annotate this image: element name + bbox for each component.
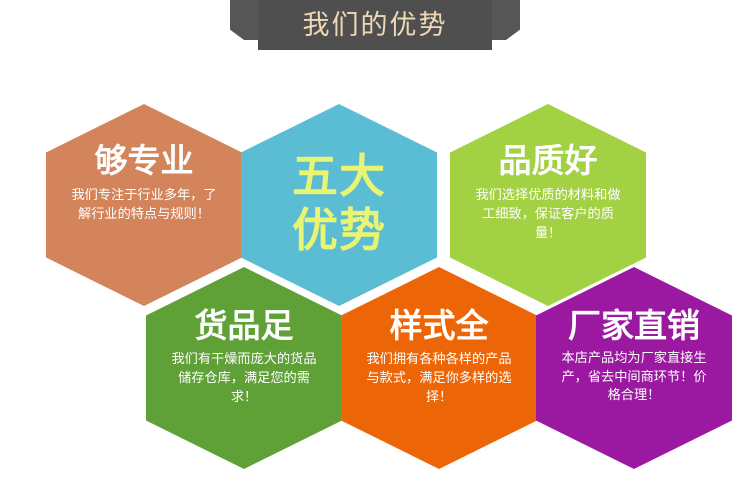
center-title: 五大 优势 (292, 149, 386, 258)
hexagon-title-2: 品质好 (499, 144, 598, 177)
hexagon-card-3[interactable]: 货品足 我们有干燥而庞大的货品储存仓库，满足您的需求！ (146, 267, 342, 469)
hexagon-title-1: 够专业 (95, 144, 194, 177)
infographic-canvas: 我们的优势 够专业 我们专注于行业多年，了解行业的特点与规则！ 五大 优势 品质… (0, 0, 750, 492)
hexagon-body-3: 我们有干燥而庞大的货品储存仓库，满足您的需求！ (168, 350, 320, 407)
hexagon-card-center[interactable]: 五大 优势 (241, 104, 437, 306)
hexagon-title-4: 样式全 (390, 309, 489, 342)
ribbon-core: 我们的优势 (258, 0, 492, 50)
hexagon-title-3: 货品足 (195, 309, 294, 342)
hexagon-body-2: 我们选择优质的材料和做工细致，保证客户的质量！ (472, 186, 624, 243)
hexagon-body-5: 本店产品均为厂家直接生产，省去中间商环节！价格合理！ (559, 350, 709, 406)
hexagon-title-5: 厂家直销 (568, 309, 700, 342)
hexagon-card-1[interactable]: 够专业 我们专注于行业多年，了解行业的特点与规则！ (46, 104, 242, 306)
hexagon-body-1: 我们专注于行业多年，了解行业的特点与规则！ (68, 186, 220, 224)
page-title: 我们的优势 (303, 12, 448, 39)
center-title-line-2: 优势 (292, 203, 386, 257)
hexagon-body-4: 我们拥有各种各样的产品与款式，满足你多样的选择！ (363, 350, 515, 407)
header-ribbon: 我们的优势 (0, 0, 750, 56)
hexagon-card-4[interactable]: 样式全 我们拥有各种各样的产品与款式，满足你多样的选择！ (341, 267, 537, 469)
center-title-line-1: 五大 (292, 149, 386, 203)
